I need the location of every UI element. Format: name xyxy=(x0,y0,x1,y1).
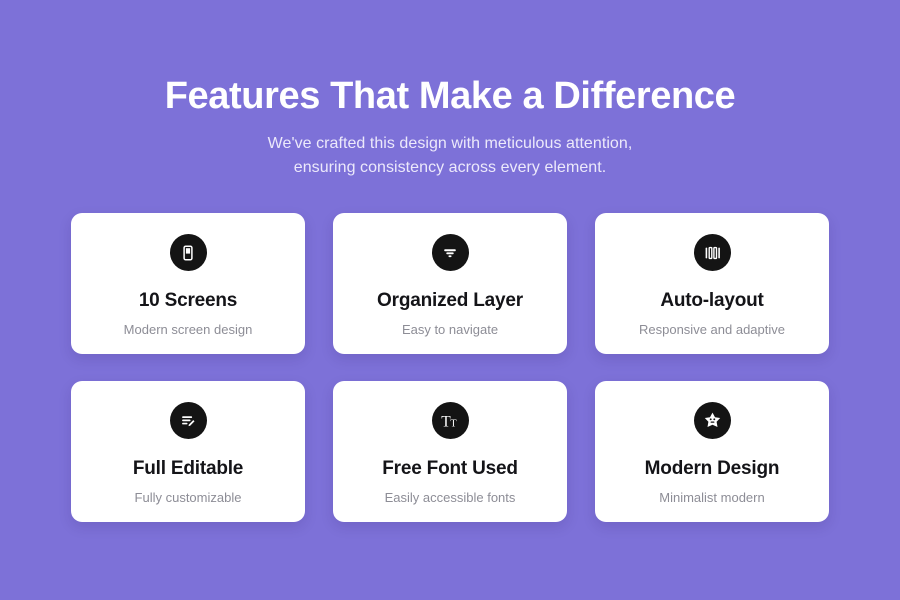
feature-card-description: Minimalist modern xyxy=(659,480,764,506)
subtitle-line-1: We've crafted this design with meticulou… xyxy=(0,132,900,156)
features-section: Features That Make a Difference We've cr… xyxy=(0,0,900,600)
feature-card-title: 10 Screens xyxy=(139,271,237,312)
mobile-phone-icon xyxy=(170,234,207,271)
feature-card-modern-design[interactable]: Modern Design Minimalist modern xyxy=(595,381,829,522)
feature-card-description: Modern screen design xyxy=(124,312,253,338)
filter-lines-icon xyxy=(432,234,469,271)
feature-card-10-screens[interactable]: 10 Screens Modern screen design xyxy=(71,213,305,354)
typography-tt-icon: T T xyxy=(432,402,469,439)
page-title: Features That Make a Difference xyxy=(0,74,900,118)
subtitle-line-2: ensuring consistency across every elemen… xyxy=(0,156,900,180)
auto-layout-bars-icon xyxy=(694,234,731,271)
section-header: Features That Make a Difference We've cr… xyxy=(0,0,900,180)
section-subtitle: We've crafted this design with meticulou… xyxy=(0,132,900,180)
feature-card-description: Easily accessible fonts xyxy=(385,480,516,506)
feature-card-free-font-used[interactable]: T T Free Font Used Easily accessible fon… xyxy=(333,381,567,522)
feature-card-title: Full Editable xyxy=(133,439,243,480)
feature-card-title: Organized Layer xyxy=(377,271,523,312)
feature-card-title: Free Font Used xyxy=(382,439,518,480)
feature-card-title: Auto-layout xyxy=(660,271,763,312)
star-badge-icon xyxy=(694,402,731,439)
feature-card-grid: 10 Screens Modern screen design Organize… xyxy=(71,180,829,522)
feature-card-description: Responsive and adaptive xyxy=(639,312,785,338)
feature-card-full-editable[interactable]: Full Editable Fully customizable xyxy=(71,381,305,522)
feature-card-description: Easy to navigate xyxy=(402,312,498,338)
svg-text:T: T xyxy=(450,418,457,429)
edit-pencil-icon xyxy=(170,402,207,439)
feature-card-organized-layer[interactable]: Organized Layer Easy to navigate xyxy=(333,213,567,354)
feature-card-title: Modern Design xyxy=(645,439,780,480)
feature-card-auto-layout[interactable]: Auto-layout Responsive and adaptive xyxy=(595,213,829,354)
feature-card-description: Fully customizable xyxy=(135,480,242,506)
